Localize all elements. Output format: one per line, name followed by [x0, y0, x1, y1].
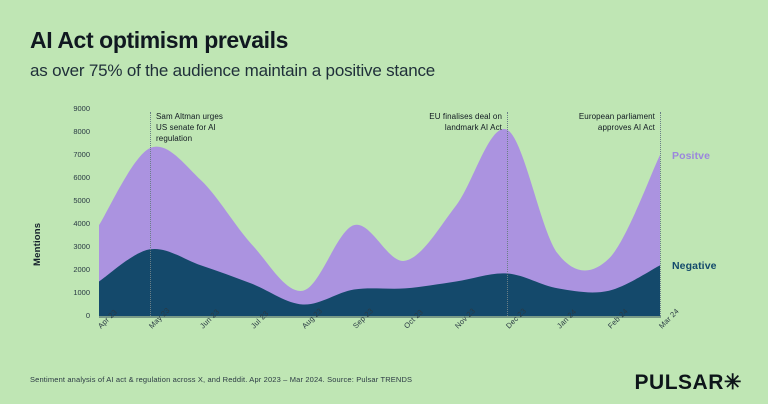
y-axis-tick-label: 3000: [44, 243, 90, 251]
chart-annotation: Sam Altman urges US senate for AI regula…: [156, 112, 286, 144]
logo-wordmark: PULSAR: [635, 371, 724, 394]
y-axis-tick-label: 2000: [44, 266, 90, 274]
page-subtitle: as over 75% of the audience maintain a p…: [30, 62, 435, 81]
chart-annotation: European parliament approves AI Act: [528, 112, 655, 134]
chart-annotation: EU finalises deal on landmark AI Act: [375, 112, 502, 134]
page-title: AI Act optimism prevails: [30, 28, 435, 53]
y-axis-tick-label: 1000: [44, 289, 90, 297]
y-axis-tick-label: 7000: [44, 151, 90, 159]
annotation-guide-line: [507, 112, 508, 316]
x-axis-ticks: Apr 23May 23Jun 23Jul 23Aug 23Sep 23Oct …: [0, 318, 768, 364]
y-axis-tick-label: 6000: [44, 174, 90, 182]
y-axis-title: Mentions: [32, 223, 43, 266]
y-axis-tick-label: 4000: [44, 220, 90, 228]
y-axis-tick-label: 9000: [44, 105, 90, 113]
legend-label-negative: Negative: [672, 260, 717, 272]
annotation-guide-line: [660, 112, 661, 316]
y-axis-tick-label: 5000: [44, 197, 90, 205]
asterisk-icon: ✳: [724, 371, 742, 394]
footer-caption: Sentiment analysis of AI act & regulatio…: [30, 375, 412, 384]
pulsar-logo: PULSAR✳: [635, 370, 742, 395]
stacked-area-chart: Mentions 9000800070006000500040003000200…: [0, 100, 768, 340]
y-axis-tick-label: 8000: [44, 128, 90, 136]
header: AI Act optimism prevails as over 75% of …: [30, 28, 435, 81]
y-axis-ticks: 9000800070006000500040003000200010000: [44, 100, 90, 340]
annotation-guide-line: [150, 112, 151, 316]
legend-label-positive: Positve: [672, 150, 710, 162]
infographic-card: AI Act optimism prevails as over 75% of …: [0, 0, 768, 404]
